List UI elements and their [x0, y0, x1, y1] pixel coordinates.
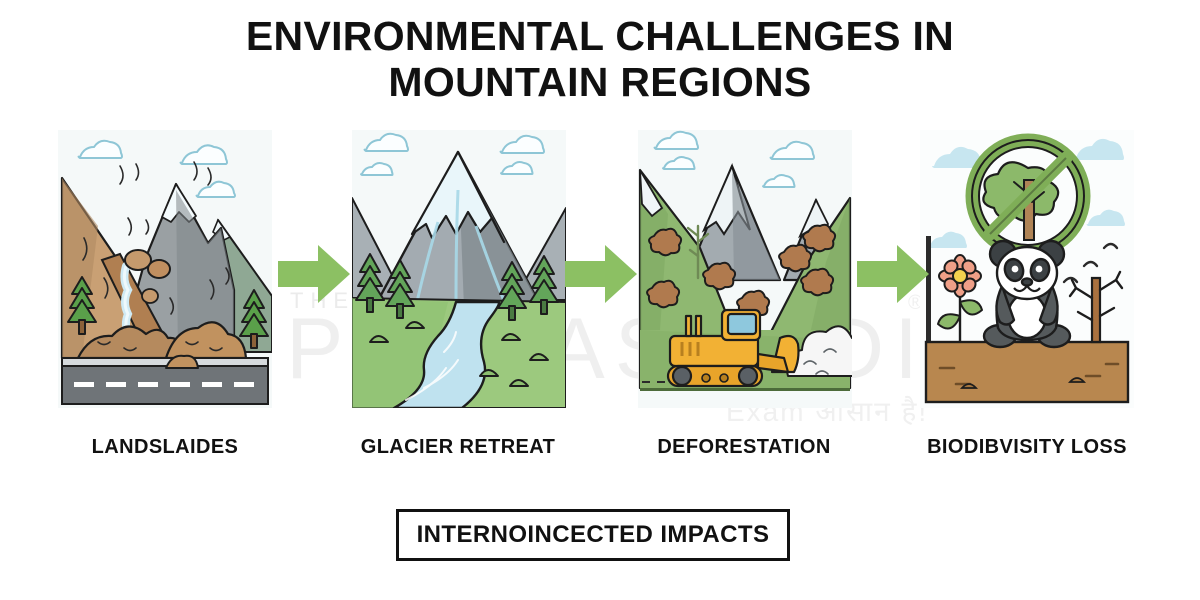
caption-glacier-retreat: GLACIER RETREAT — [343, 436, 573, 459]
interconnected-impacts-label: INTERNOINCECTED IMPACTS — [417, 521, 770, 549]
arrow-landslides-to-glacier — [278, 243, 350, 305]
caption-landslides: LANDSLAIDES — [50, 436, 280, 459]
panel-deforestation[interactable] — [638, 130, 852, 408]
landslide-scene-icon — [58, 130, 272, 408]
arrow-glacier-to-deforestation — [565, 243, 637, 305]
panel-biodiversity-loss[interactable] — [920, 130, 1134, 408]
interconnected-impacts-box[interactable]: INTERNOINCECTED IMPACTS — [396, 509, 790, 561]
panel-landslides[interactable] — [58, 130, 272, 408]
panel-glacier-retreat[interactable] — [352, 130, 566, 408]
glacier-retreat-scene-icon — [352, 130, 566, 408]
biodiversity-loss-scene-icon — [920, 130, 1134, 408]
page-title-line-2: MOUNTAIN REGIONS — [0, 60, 1200, 106]
caption-deforestation: DEFORESTATION — [629, 436, 859, 459]
infographic-canvas: THE PRAYAS INDIA ® Exam आसान है! ENVIRON… — [0, 0, 1200, 600]
caption-biodiversity-loss: BIODIBVISITY LOSS — [912, 436, 1142, 459]
page-title: ENVIRONMENTAL CHALLENGES IN MOUNTAIN REG… — [0, 14, 1200, 106]
arrow-deforestation-to-biodiversity — [857, 243, 929, 305]
page-title-line-1: ENVIRONMENTAL CHALLENGES IN — [0, 14, 1200, 60]
deforestation-scene-icon — [638, 130, 852, 408]
